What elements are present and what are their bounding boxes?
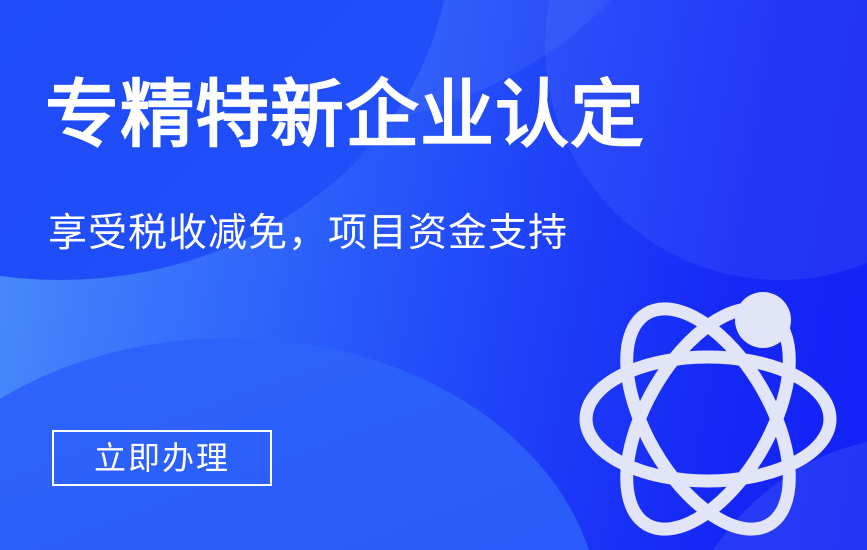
- banner-title: 专精特新企业认定: [45, 78, 645, 152]
- promo-banner: 专精特新企业认定 享受税收减免，项目资金支持 立即办理: [0, 0, 867, 550]
- banner-subtitle: 享受税收减免，项目资金支持: [48, 212, 568, 257]
- apply-now-button[interactable]: 立即办理: [52, 430, 272, 486]
- atom-icon: [575, 288, 850, 550]
- electron-ball-icon: [735, 292, 791, 348]
